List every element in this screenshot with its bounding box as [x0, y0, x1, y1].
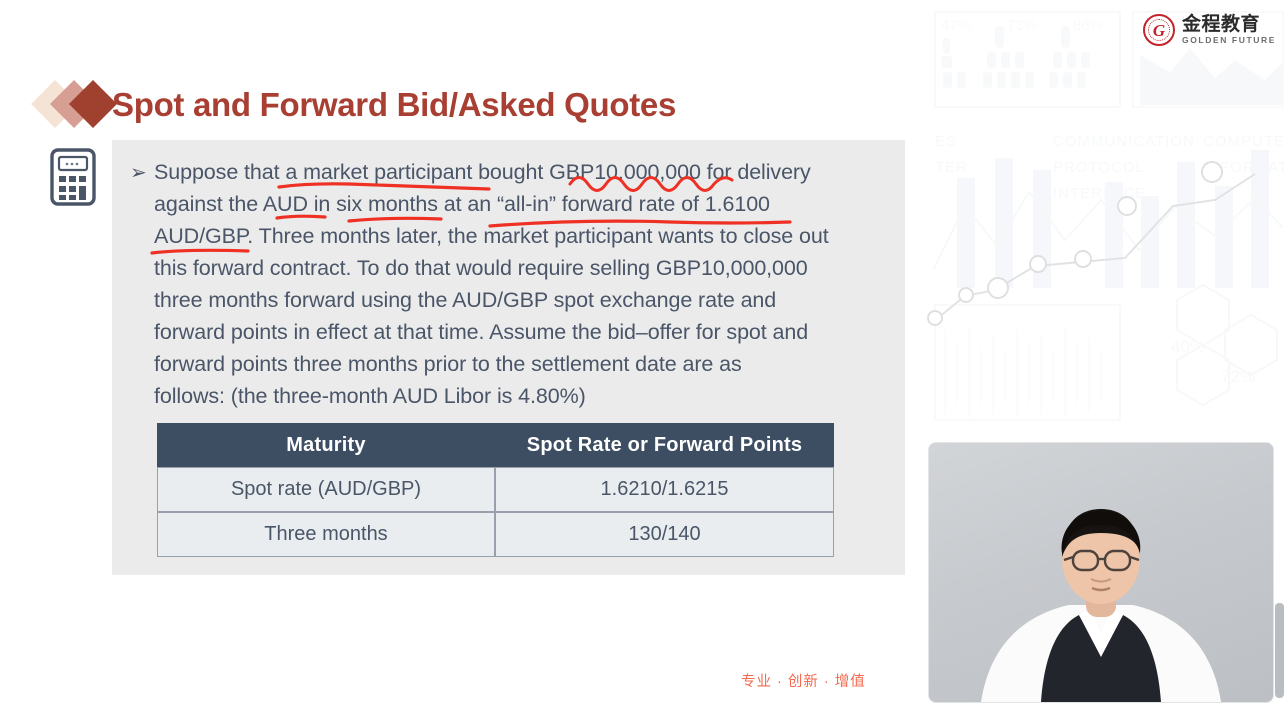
- column-header-rate: Spot Rate or Forward Points: [495, 423, 834, 467]
- footer-slogan: 专业 · 创新 · 增值: [741, 670, 866, 691]
- cell-maturity: Spot rate (AUD/GBP): [157, 467, 495, 512]
- cell-rate: 1.6210/1.6215: [495, 467, 834, 512]
- calculator-icon: [50, 148, 96, 206]
- slide-canvas: Spot and Forward Bid/Asked Quotes ➢: [0, 0, 925, 722]
- svg-text:86%: 86%: [1073, 17, 1103, 34]
- brand-name-cn: 金程教育: [1182, 15, 1276, 34]
- body-line: against the AUD in six months at an “all…: [154, 188, 880, 220]
- presenter-figure: [929, 487, 1273, 702]
- sidebar: 47% 73% 86%: [925, 0, 1284, 722]
- svg-text:ES: ES: [935, 133, 957, 150]
- cell-maturity: Three months: [157, 512, 495, 557]
- table-row: Spot rate (AUD/GBP) 1.6210/1.6215: [157, 467, 834, 512]
- cell-rate: 130/140: [495, 512, 834, 557]
- page-title: Spot and Forward Bid/Asked Quotes: [112, 88, 676, 121]
- slide-title-row: Spot and Forward Bid/Asked Quotes: [38, 78, 676, 130]
- svg-text:COMMUNICATION: COMMUNICATION: [1053, 133, 1195, 150]
- svg-text:40%: 40%: [1171, 337, 1205, 356]
- body-line: AUD/GBP. Three months later, the market …: [154, 220, 880, 252]
- svg-text:PROTOCOL: PROTOCOL: [1053, 159, 1145, 176]
- content-panel: ➢ Suppose that a market participant boug…: [112, 140, 905, 575]
- table-row: Three months 130/140: [157, 512, 834, 557]
- body-line: forward points three months prior to the…: [154, 348, 880, 380]
- seal-icon: G: [1143, 14, 1175, 46]
- body-line: forward points in effect at that time. A…: [154, 316, 880, 348]
- body-line: follows: (the three-month AUD Libor is 4…: [154, 380, 880, 412]
- brand-name-en: GOLDEN FUTURE: [1182, 36, 1276, 45]
- body-line: this forward contract. To do that would …: [154, 252, 880, 284]
- svg-text:72%: 72%: [1221, 367, 1255, 386]
- brand-logo: G 金程教育 GOLDEN FUTURE: [1143, 14, 1276, 46]
- body-line: Suppose that a market participant bought…: [154, 156, 880, 188]
- table-header-row: Maturity Spot Rate or Forward Points: [157, 423, 834, 467]
- svg-text:47%: 47%: [941, 17, 971, 34]
- scrollbar-thumb[interactable]: [1275, 603, 1284, 698]
- svg-text:COMPUTER: COMPUTER: [1203, 133, 1284, 150]
- svg-text:73%: 73%: [1007, 17, 1037, 34]
- rates-table: Maturity Spot Rate or Forward Points Spo…: [157, 423, 834, 557]
- presenter-video-feed[interactable]: [929, 443, 1273, 702]
- bullet-paragraph: ➢ Suppose that a market participant boug…: [128, 156, 888, 412]
- diamond-decoration-icon: [38, 78, 112, 130]
- column-header-maturity: Maturity: [157, 423, 495, 467]
- svg-text:TER: TER: [935, 159, 968, 176]
- body-line: three months forward using the AUD/GBP s…: [154, 284, 880, 316]
- bullet-arrow-icon: ➢: [128, 156, 154, 412]
- slide-viewer: Spot and Forward Bid/Asked Quotes ➢: [0, 0, 1284, 722]
- seal-letter: G: [1153, 22, 1165, 39]
- infographic-watermark: 47% 73% 86%: [925, 0, 1284, 440]
- body-paragraph: Suppose that a market participant bought…: [154, 156, 880, 412]
